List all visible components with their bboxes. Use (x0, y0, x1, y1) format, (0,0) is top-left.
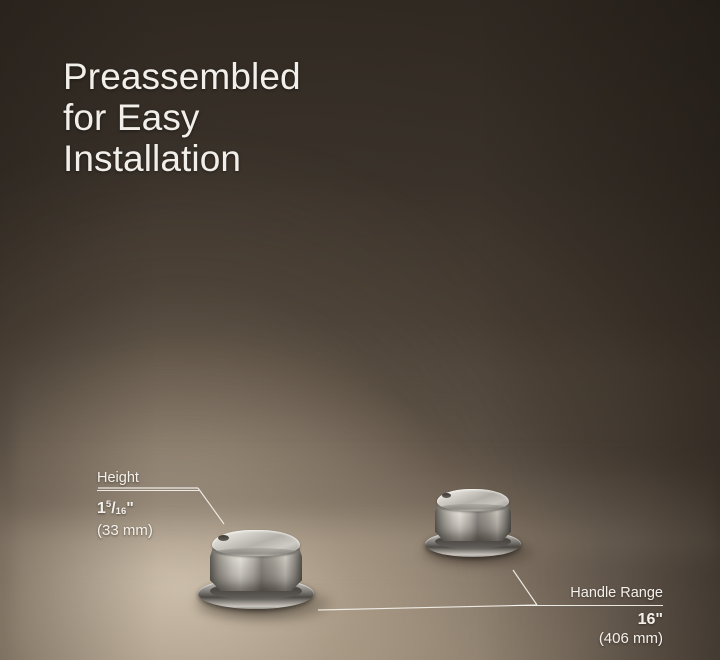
height-callout-metric: (33 mm) (97, 521, 199, 540)
height-callout-rule (97, 490, 199, 491)
height-fraction-numerator: 5 (106, 499, 111, 510)
handle-range-callout-rule (513, 605, 663, 606)
height-value-unit: " (126, 500, 134, 517)
height-value-fraction: 5/16 (106, 500, 126, 517)
handle-range-callout-value: 16" (513, 610, 663, 629)
height-fraction-denominator: 16 (116, 506, 127, 517)
height-callout-title: Height (97, 470, 199, 487)
headline: Preassembled for Easy Installation (63, 56, 301, 179)
handle-range-callout-title: Handle Range (513, 585, 663, 602)
height-value-whole: 1 (97, 500, 106, 517)
height-callout: Height 15/16" (33 mm) (97, 470, 199, 540)
product-feature-image: Preassembled for Easy Installation Heigh… (0, 0, 720, 660)
handle-range-callout: Handle Range 16" (406 mm) (513, 585, 663, 648)
height-callout-value: 15/16" (97, 495, 199, 521)
handle-range-callout-metric: (406 mm) (513, 629, 663, 648)
